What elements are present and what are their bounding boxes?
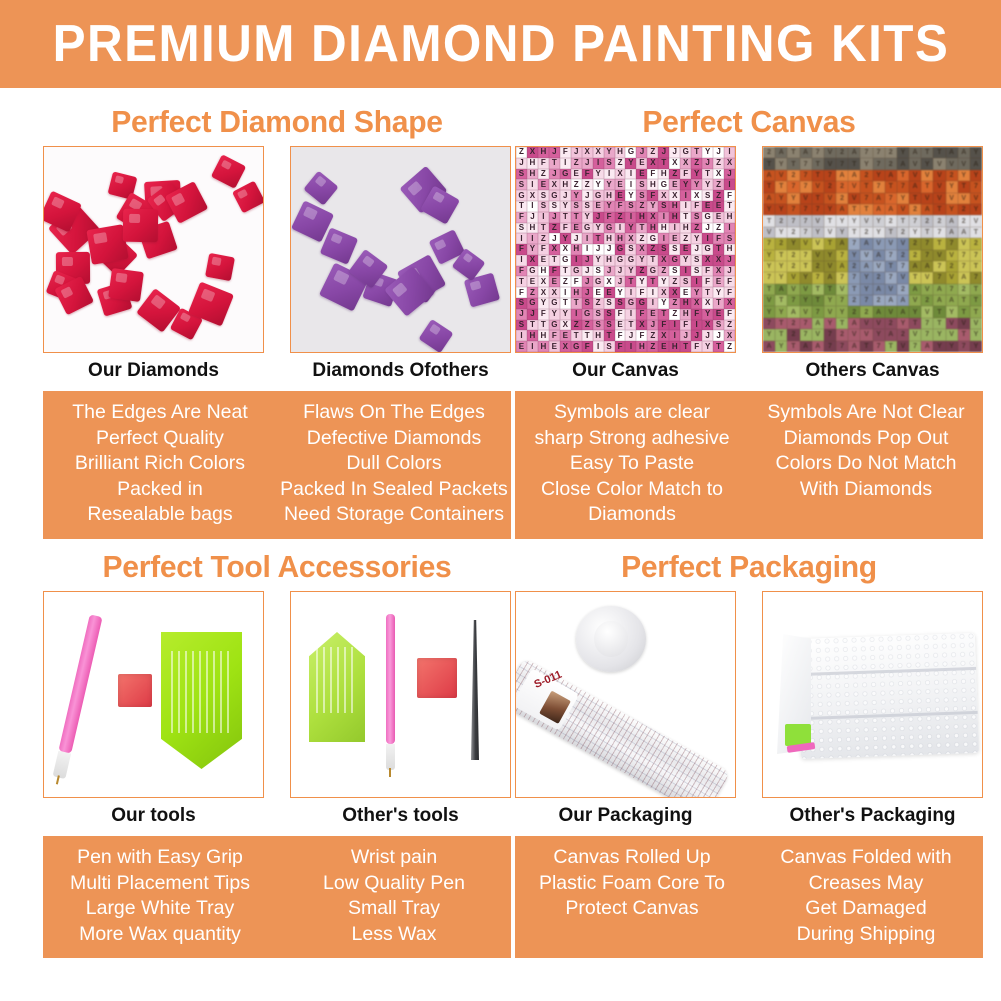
canvas-symbol-cell: T: [824, 215, 836, 226]
canvas-symbol-cell: E: [669, 233, 680, 244]
diamond-bead-icon: [205, 253, 235, 281]
canvas-symbol-cell: A: [775, 284, 787, 295]
canvas-symbol-cell: 2: [836, 329, 848, 340]
canvas-symbol-cell: Y: [848, 215, 860, 226]
canvas-symbol-cell: T: [812, 193, 824, 204]
canvas-symbol-cell: 7: [836, 250, 848, 261]
canvas-symbol-cell: X: [538, 287, 549, 298]
photo-pair: ZXHJFJXXYHGJZJJGTYJIJHFTIZJISZYEXTXXZJZX…: [515, 146, 983, 353]
canvas-symbol-cell: T: [958, 306, 970, 317]
canvas-symbol-cell: V: [860, 318, 872, 329]
canvas-symbol-cell: 7: [800, 170, 812, 181]
canvas-symbol-cell: H: [538, 330, 549, 341]
canvas-symbol-cell: Z: [647, 147, 658, 158]
canvas-symbol-cell: T: [897, 215, 909, 226]
canvas-symbol-cell: V: [824, 147, 836, 158]
canvas-symbol-cell: H: [604, 255, 615, 266]
canvas-symbol-cell: V: [824, 261, 836, 272]
canvas-symbol-cell: E: [549, 276, 560, 287]
canvas-symbol-cell: E: [636, 158, 647, 169]
canvas-symbol-cell: Z: [636, 266, 647, 277]
canvas-symbol-cell: S: [702, 190, 713, 201]
canvas-symbol-cell: J: [604, 266, 615, 277]
rolled-tube-image: S-011: [516, 592, 735, 797]
canvas-symbol-cell: X: [636, 244, 647, 255]
canvas-symbol-cell: T: [958, 329, 970, 340]
canvas-symbol-cell: S: [582, 201, 593, 212]
canvas-symbol-cell: 2: [897, 250, 909, 261]
diamond-bead-icon: [210, 154, 245, 189]
canvas-symbol-cell: A: [824, 272, 836, 283]
canvas-symbol-cell: V: [958, 193, 970, 204]
caption-ours: Our tools: [43, 805, 264, 827]
canvas-symbol-cell: T: [516, 201, 527, 212]
canvas-symbol-cell: 7: [787, 215, 799, 226]
canvas-symbol-cell: Y: [946, 341, 958, 352]
canvas-symbol-cell: J: [713, 330, 724, 341]
canvas-symbol-cell: V: [824, 306, 836, 317]
canvas-symbol-cell: J: [582, 255, 593, 266]
canvas-symbol-cell: A: [860, 261, 872, 272]
canvas-symbol-cell: I: [615, 223, 626, 234]
canvas-symbol-cell: T: [970, 306, 982, 317]
canvas-symbol-cell: I: [658, 233, 669, 244]
blurry-color-canvas-image: 2ATA7V2A772YATTAAYTYT7TV7TY72AVYVVVAAV27…: [763, 147, 982, 352]
canvas-symbol-cell: 2: [897, 227, 909, 238]
canvas-symbol-cell: A: [897, 306, 909, 317]
canvas-symbol-cell: V: [824, 227, 836, 238]
canvas-symbol-cell: Y: [604, 147, 615, 158]
canvas-symbol-cell: X: [527, 255, 538, 266]
canvas-symbol-cell: A: [909, 147, 921, 158]
canvas-symbol-cell: J: [702, 223, 713, 234]
canvas-symbol-cell: A: [933, 284, 945, 295]
canvas-symbol-cell: S: [636, 190, 647, 201]
canvas-symbol-cell: V: [873, 318, 885, 329]
canvas-symbol-cell: Y: [560, 309, 571, 320]
canvas-symbol-cell: A: [812, 341, 824, 352]
canvas-symbol-cell: Y: [787, 238, 799, 249]
canvas-symbol-cell: T: [921, 147, 933, 158]
canvas-symbol-cell: I: [571, 255, 582, 266]
canvas-symbol-cell: X: [647, 212, 658, 223]
canvas-symbol-cell: 7: [873, 147, 885, 158]
our-canvas-photo: ZXHJFJXXYHGJZJJGTYJIJHFTIZJISZYEXTXXZJZX…: [515, 146, 736, 353]
canvas-symbol-cell: T: [527, 320, 538, 331]
canvas-symbol-cell: F: [680, 320, 691, 331]
canvas-symbol-cell: 2: [921, 215, 933, 226]
canvas-symbol-cell: F: [724, 190, 735, 201]
canvas-symbol-cell: F: [549, 330, 560, 341]
bullets-ours: Canvas Rolled UpPlastic Foam Core ToProt…: [515, 845, 749, 947]
canvas-symbol-cell: A: [848, 318, 860, 329]
canvas-symbol-cell: S: [582, 298, 593, 309]
red-diamond-beads-image: [44, 147, 263, 352]
canvas-symbol-cell: Z: [582, 320, 593, 331]
canvas-symbol-cell: 7: [800, 329, 812, 340]
canvas-symbol-cell: A: [836, 261, 848, 272]
canvas-symbol-cell: 2: [763, 147, 775, 158]
canvas-symbol-cell: Y: [775, 227, 787, 238]
our-packaging-photo: S-011: [515, 591, 736, 798]
canvas-symbol-cell: Z: [724, 320, 735, 331]
canvas-symbol-cell: Y: [702, 309, 713, 320]
canvas-symbol-cell: V: [885, 284, 897, 295]
canvas-symbol-cell: Y: [946, 306, 958, 317]
canvas-symbol-cell: V: [824, 193, 836, 204]
canvas-symbol-cell: H: [724, 244, 735, 255]
canvas-symbol-cell: T: [787, 341, 799, 352]
canvas-symbol-cell: T: [647, 276, 658, 287]
canvas-symbol-cell: J: [713, 147, 724, 158]
canvas-symbol-cell: A: [787, 306, 799, 317]
caption-pair: Our Canvas Others Canvas: [515, 360, 983, 382]
canvas-symbol-cell: J: [593, 212, 604, 223]
canvas-symbol-cell: I: [604, 169, 615, 180]
canvas-symbol-cell: Z: [691, 158, 702, 169]
canvas-symbol-cell: Y: [836, 306, 848, 317]
canvas-symbol-cell: T: [582, 330, 593, 341]
canvas-symbol-cell: H: [636, 212, 647, 223]
canvas-symbol-cell: 2: [860, 227, 872, 238]
canvas-symbol-cell: I: [680, 190, 691, 201]
canvas-symbol-cell: F: [702, 276, 713, 287]
canvas-symbol-cell: V: [921, 272, 933, 283]
canvas-symbol-cell: Z: [571, 179, 582, 190]
canvas-symbol-cell: Y: [970, 341, 982, 352]
canvas-symbol-cell: Z: [560, 276, 571, 287]
canvas-symbol-cell: 7: [873, 341, 885, 352]
canvas-symbol-cell: V: [933, 250, 945, 261]
canvas-symbol-cell: T: [763, 284, 775, 295]
canvas-symbol-cell: Y: [824, 250, 836, 261]
canvas-symbol-cell: A: [848, 341, 860, 352]
canvas-symbol-cell: I: [527, 179, 538, 190]
canvas-symbol-cell: S: [604, 320, 615, 331]
canvas-symbol-cell: Z: [647, 341, 658, 352]
canvas-symbol-cell: V: [812, 329, 824, 340]
canvas-symbol-cell: A: [775, 147, 787, 158]
canvas-symbol-cell: T: [824, 284, 836, 295]
canvas-symbol-cell: J: [516, 158, 527, 169]
canvas-symbol-cell: T: [800, 261, 812, 272]
canvas-symbol-cell: 7: [958, 261, 970, 272]
canvas-symbol-cell: Y: [680, 255, 691, 266]
canvas-symbol-cell: S: [593, 320, 604, 331]
canvas-symbol-cell: 2: [860, 170, 872, 181]
canvas-symbol-cell: 7: [800, 318, 812, 329]
canvas-symbol-cell: A: [836, 204, 848, 215]
canvas-symbol-cell: H: [647, 179, 658, 190]
canvas-symbol-cell: Y: [625, 266, 636, 277]
canvas-symbol-cell: F: [538, 158, 549, 169]
canvas-symbol-cell: J: [691, 330, 702, 341]
canvas-symbol-cell: X: [549, 244, 560, 255]
canvas-symbol-cell: T: [571, 330, 582, 341]
canvas-symbol-cell: Y: [775, 261, 787, 272]
bubble-mailer-image: [763, 592, 982, 797]
bullet-line: Colors Do Not Match: [749, 451, 983, 477]
canvas-symbol-cell: V: [860, 215, 872, 226]
canvas-symbol-cell: E: [571, 169, 582, 180]
canvas-symbol-cell: 7: [812, 204, 824, 215]
canvas-symbol-cell: Z: [713, 158, 724, 169]
canvas-symbol-cell: Y: [873, 329, 885, 340]
canvas-symbol-cell: G: [516, 190, 527, 201]
canvas-symbol-cell: Z: [680, 233, 691, 244]
canvas-symbol-cell: Y: [763, 261, 775, 272]
others-tools-photo: [290, 591, 511, 798]
canvas-symbol-cell: G: [593, 276, 604, 287]
canvas-symbol-cell: 7: [885, 250, 897, 261]
canvas-symbol-cell: T: [549, 158, 560, 169]
canvas-symbol-cell: G: [560, 255, 571, 266]
canvas-symbol-cell: A: [885, 295, 897, 306]
canvas-symbol-cell: T: [885, 261, 897, 272]
shipping-tube-icon: S-011: [515, 658, 730, 798]
canvas-symbol-cell: E: [615, 179, 626, 190]
canvas-symbol-cell: Y: [680, 179, 691, 190]
canvas-symbol-cell: Z: [636, 233, 647, 244]
canvas-symbol-cell: 2: [860, 306, 872, 317]
canvas-symbol-cell: Z: [516, 147, 527, 158]
canvas-symbol-cell: 7: [958, 341, 970, 352]
canvas-symbol-cell: G: [702, 244, 713, 255]
canvas-symbol-cell: V: [885, 238, 897, 249]
wax-square-icon: [118, 674, 152, 707]
bullet-line: Defective Diamonds: [277, 426, 511, 452]
bullet-line: Multi Placement Tips: [43, 871, 277, 897]
canvas-symbol-cell: 2: [873, 272, 885, 283]
bullet-line: Pen with Easy Grip: [43, 845, 277, 871]
canvas-symbol-cell: T: [516, 276, 527, 287]
canvas-symbol-cell: E: [615, 320, 626, 331]
bullets-ours: Symbols are clearsharp Strong adhesiveEa…: [515, 400, 749, 528]
bullet-line: Easy To Paste: [515, 451, 749, 477]
canvas-symbol-cell: X: [658, 255, 669, 266]
canvas-symbol-cell: V: [958, 238, 970, 249]
caption-theirs: Diamonds Ofothers: [290, 360, 511, 382]
canvas-symbol-cell: H: [615, 233, 626, 244]
canvas-symbol-cell: 7: [812, 272, 824, 283]
canvas-symbol-cell: E: [527, 276, 538, 287]
canvas-symbol-cell: 7: [958, 250, 970, 261]
canvas-symbol-cell: I: [658, 212, 669, 223]
canvas-symbol-cell: Y: [848, 250, 860, 261]
canvas-symbol-cell: Z: [669, 276, 680, 287]
canvas-symbol-cell: H: [724, 212, 735, 223]
canvas-symbol-cell: A: [958, 147, 970, 158]
canvas-symbol-cell: 2: [787, 170, 799, 181]
canvas-symbol-cell: Y: [897, 147, 909, 158]
canvas-symbol-cell: Y: [582, 212, 593, 223]
others-tools-image: [291, 592, 510, 797]
canvas-symbol-cell: 2: [836, 193, 848, 204]
canvas-symbol-cell: T: [724, 201, 735, 212]
canvas-symbol-cell: X: [549, 179, 560, 190]
canvas-symbol-cell: T: [593, 233, 604, 244]
canvas-symbol-cell: X: [724, 298, 735, 309]
bullets-theirs: Flaws On The EdgesDefective DiamondsDull…: [277, 400, 511, 528]
canvas-symbol-cell: X: [669, 158, 680, 169]
canvas-symbol-cell: V: [824, 158, 836, 169]
canvas-symbol-cell: J: [658, 147, 669, 158]
canvas-symbol-cell: H: [538, 341, 549, 352]
canvas-symbol-cell: X: [538, 276, 549, 287]
our-tools-image: [44, 592, 263, 797]
canvas-symbol-cell: J: [647, 320, 658, 331]
canvas-symbol-cell: H: [647, 223, 658, 234]
canvas-symbol-cell: X: [724, 330, 735, 341]
canvas-symbol-cell: Y: [560, 201, 571, 212]
canvas-symbol-cell: I: [625, 287, 636, 298]
canvas-symbol-cell: E: [713, 201, 724, 212]
canvas-symbol-cell: G: [658, 179, 669, 190]
canvas-symbol-cell: V: [909, 329, 921, 340]
canvas-symbol-cell: J: [604, 244, 615, 255]
canvas-symbol-cell: 7: [812, 306, 824, 317]
canvas-symbol-cell: V: [933, 170, 945, 181]
canvas-symbol-cell: V: [812, 215, 824, 226]
canvas-symbol-cell: G: [625, 255, 636, 266]
canvas-symbol-cell: X: [527, 190, 538, 201]
canvas-symbol-cell: 7: [933, 227, 945, 238]
bullet-line: Diamonds: [515, 502, 749, 528]
canvas-symbol-cell: E: [713, 276, 724, 287]
canvas-symbol-cell: T: [958, 295, 970, 306]
canvas-symbol-cell: Y: [625, 190, 636, 201]
bullet-line: sharp Strong adhesive: [515, 426, 749, 452]
canvas-symbol-cell: T: [549, 255, 560, 266]
bullet-line: Plastic Foam Core To: [515, 871, 749, 897]
canvas-symbol-cell: 7: [921, 238, 933, 249]
canvas-symbol-cell: X: [702, 255, 713, 266]
canvas-symbol-cell: F: [516, 212, 527, 223]
canvas-symbol-cell: V: [800, 284, 812, 295]
canvas-symbol-cell: J: [549, 147, 560, 158]
canvas-symbol-cell: I: [625, 179, 636, 190]
canvas-symbol-cell: T: [658, 309, 669, 320]
canvas-symbol-cell: V: [946, 158, 958, 169]
canvas-symbol-cell: I: [647, 287, 658, 298]
canvas-symbol-cell: G: [647, 266, 658, 277]
canvas-symbol-cell: G: [549, 320, 560, 331]
canvas-symbol-cell: A: [909, 181, 921, 192]
diamond-bead-icon: [304, 171, 339, 206]
canvas-symbol-cell: H: [669, 341, 680, 352]
canvas-symbol-cell: T: [787, 158, 799, 169]
canvas-symbol-cell: T: [921, 227, 933, 238]
canvas-symbol-cell: J: [571, 147, 582, 158]
canvas-symbol-cell: X: [647, 158, 658, 169]
canvas-symbol-cell: V: [787, 272, 799, 283]
canvas-symbol-cell: A: [946, 215, 958, 226]
canvas-symbol-cell: A: [946, 147, 958, 158]
canvas-symbol-cell: F: [538, 309, 549, 320]
canvas-symbol-cell: Y: [909, 306, 921, 317]
canvas-symbol-cell: Y: [615, 287, 626, 298]
canvas-symbol-cell: Y: [763, 250, 775, 261]
bullet-line: Diamonds Pop Out: [749, 426, 983, 452]
canvas-symbol-cell: V: [860, 250, 872, 261]
canvas-symbol-cell: 2: [958, 215, 970, 226]
canvas-symbol-cell: Y: [604, 179, 615, 190]
canvas-symbol-cell: S: [593, 266, 604, 277]
canvas-symbol-cell: 7: [946, 284, 958, 295]
canvas-symbol-cell: I: [516, 233, 527, 244]
canvas-symbol-cell: E: [593, 201, 604, 212]
canvas-symbol-cell: X: [549, 287, 560, 298]
canvas-symbol-cell: F: [724, 287, 735, 298]
canvas-symbol-cell: T: [848, 227, 860, 238]
canvas-symbol-cell: A: [836, 238, 848, 249]
canvas-symbol-cell: T: [824, 238, 836, 249]
canvas-symbol-cell: Y: [691, 169, 702, 180]
canvas-symbol-cell: T: [647, 255, 658, 266]
canvas-symbol-cell: F: [636, 287, 647, 298]
canvas-symbol-cell: 7: [800, 215, 812, 226]
canvas-symbol-cell: G: [647, 233, 658, 244]
canvas-symbol-cell: Y: [933, 329, 945, 340]
canvas-symbol-cell: I: [625, 309, 636, 320]
canvas-symbol-cell: J: [549, 212, 560, 223]
canvas-symbol-cell: Y: [636, 276, 647, 287]
canvas-symbol-cell: T: [713, 244, 724, 255]
canvas-symbol-cell: A: [848, 170, 860, 181]
canvas-symbol-cell: F: [571, 276, 582, 287]
canvas-symbol-cell: V: [909, 158, 921, 169]
canvas-symbol-cell: A: [885, 170, 897, 181]
canvas-symbol-cell: T: [897, 170, 909, 181]
others-packaging-photo: [762, 591, 983, 798]
bubble-mailer-icon: [797, 633, 979, 759]
canvas-symbol-cell: 2: [848, 306, 860, 317]
canvas-symbol-cell: 7: [812, 147, 824, 158]
canvas-symbol-cell: H: [680, 298, 691, 309]
canvas-symbol-cell: J: [571, 233, 582, 244]
canvas-symbol-cell: I: [647, 298, 658, 309]
canvas-symbol-cell: J: [625, 330, 636, 341]
canvas-symbol-cell: Z: [549, 223, 560, 234]
canvas-symbol-cell: I: [516, 330, 527, 341]
canvas-symbol-cell: T: [848, 284, 860, 295]
canvas-symbol-cell: 7: [970, 272, 982, 283]
canvas-symbol-cell: J: [582, 266, 593, 277]
bullets-ours: The Edges Are NeatPerfect QualityBrillia…: [43, 400, 277, 528]
canvas-symbol-cell: Y: [836, 227, 848, 238]
bullet-line: Protect Canvas: [515, 896, 749, 922]
canvas-symbol-cell: T: [848, 158, 860, 169]
canvas-symbol-cell: T: [775, 329, 787, 340]
canvas-symbol-cell: E: [604, 287, 615, 298]
canvas-symbol-cell: X: [669, 190, 680, 201]
canvas-symbol-cell: 7: [909, 341, 921, 352]
canvas-symbol-cell: S: [636, 179, 647, 190]
canvas-symbol-cell: 7: [763, 238, 775, 249]
canvas-symbol-cell: A: [921, 261, 933, 272]
canvas-symbol-cell: F: [647, 169, 658, 180]
canvas-symbol-cell: I: [724, 223, 735, 234]
canvas-symbol-cell: J: [669, 147, 680, 158]
canvas-symbol-cell: I: [560, 287, 571, 298]
canvas-symbol-cell: T: [763, 181, 775, 192]
canvas-symbol-cell: T: [812, 284, 824, 295]
canvas-symbol-cell: J: [560, 190, 571, 201]
caption-ours: Our Diamonds: [43, 360, 264, 382]
canvas-symbol-cell: Y: [970, 204, 982, 215]
canvas-symbol-cell: A: [885, 204, 897, 215]
canvas-symbol-cell: F: [604, 212, 615, 223]
